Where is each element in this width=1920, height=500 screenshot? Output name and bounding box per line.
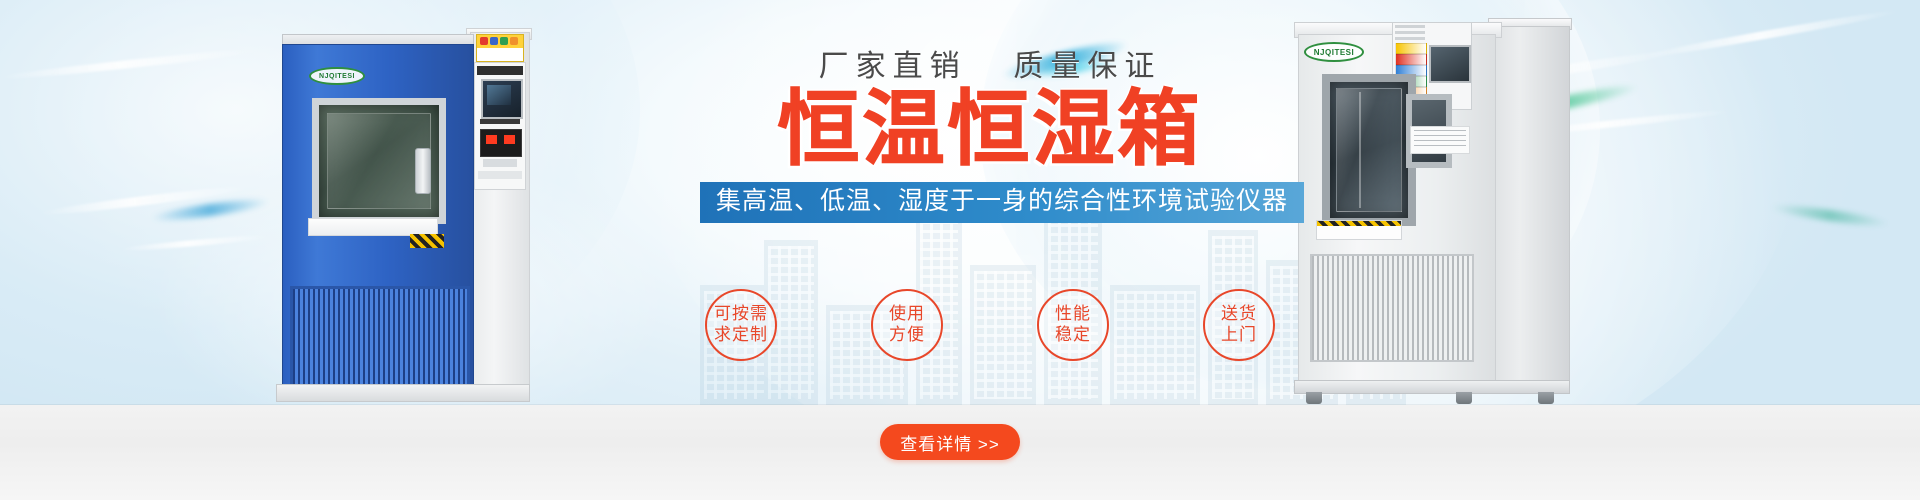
feature-badge-line2: 方便 <box>889 325 925 346</box>
left-unit-brand-logo: NJQITESI <box>309 67 365 85</box>
right-unit-caster <box>1456 392 1472 404</box>
right-unit-brand-text: NJQITESI <box>1314 48 1354 57</box>
tagline-right: 质量保证 <box>1013 50 1161 83</box>
right-unit-side-panel <box>1492 26 1570 386</box>
left-unit-door-handle <box>415 148 431 194</box>
product-image-right: NJQITESI <box>1280 8 1580 406</box>
feature-badge-1[interactable]: 可按需求定制 <box>705 289 777 361</box>
feature-badge-2[interactable]: 使用方便 <box>871 289 943 361</box>
right-unit-panel-rows <box>1395 25 1425 41</box>
tagline-left: 厂家直销 <box>819 50 967 83</box>
background-streak <box>40 183 250 218</box>
background-streak <box>0 46 259 81</box>
feature-badge-line1: 性能 <box>1055 304 1091 325</box>
right-unit-spec-label <box>1410 126 1470 154</box>
left-unit-panel-footer <box>478 171 522 179</box>
feature-badge-line1: 可按需 <box>714 304 768 325</box>
feature-badge-3[interactable]: 性能稳定 <box>1037 289 1109 361</box>
left-unit-base <box>276 384 530 402</box>
feature-badge-line2: 求定制 <box>714 325 768 346</box>
background-streak <box>120 233 270 252</box>
banner-tagline: 厂家直销 质量保证 <box>700 52 1280 82</box>
feature-badges: 可按需求定制使用方便性能稳定送货上门 <box>705 289 1275 361</box>
promo-banner: NJQITESI NJQITESI <box>0 0 1920 500</box>
product-image-left: NJQITESI <box>260 28 530 406</box>
left-unit-warning-sticker <box>410 234 444 248</box>
feature-badge-4[interactable]: 送货上门 <box>1203 289 1275 361</box>
view-details-button[interactable]: 查看详情 >> <box>880 424 1020 460</box>
left-unit-hazard-labels <box>476 34 524 62</box>
accent-wisp-icon <box>150 196 271 225</box>
left-unit-panel-indicators <box>480 129 522 157</box>
right-unit-window-glass <box>1336 88 1402 212</box>
right-unit-warning-plate <box>1316 220 1402 240</box>
right-unit-vent-grille <box>1310 254 1474 362</box>
left-unit-vent-grille <box>290 286 470 388</box>
banner-subtitle: 集高温、低温、湿度于一身的综合性环境试验仪器 <box>700 182 1304 223</box>
feature-badge-line1: 送货 <box>1221 304 1257 325</box>
background-streak <box>1641 7 1898 60</box>
feature-badge-line2: 稳定 <box>1055 325 1091 346</box>
banner-headline: 恒温恒湿箱 <box>700 88 1280 172</box>
left-unit-panel-strip <box>480 119 520 124</box>
right-unit-caster <box>1306 392 1322 404</box>
right-unit-base <box>1294 380 1570 394</box>
right-unit-brand-logo: NJQITESI <box>1304 42 1364 62</box>
left-unit-brand-text: NJQITESI <box>319 73 355 80</box>
left-unit-panel-title <box>477 66 523 75</box>
right-unit-viewing-window <box>1322 74 1416 226</box>
left-unit-panel-screen <box>481 79 523 119</box>
banner-copy: 厂家直销 质量保证 恒温恒湿箱 集高温、低温、湿度于一身的综合性环境试验仪器 <box>700 52 1280 223</box>
left-unit-panel-logo <box>483 159 517 167</box>
left-unit-control-panel <box>474 62 526 190</box>
right-unit-caster <box>1538 392 1554 404</box>
accent-wisp-icon <box>1770 202 1890 230</box>
feature-badge-line1: 使用 <box>889 304 925 325</box>
right-unit-panel-screen <box>1429 45 1471 83</box>
feature-badge-line2: 上门 <box>1221 325 1257 346</box>
